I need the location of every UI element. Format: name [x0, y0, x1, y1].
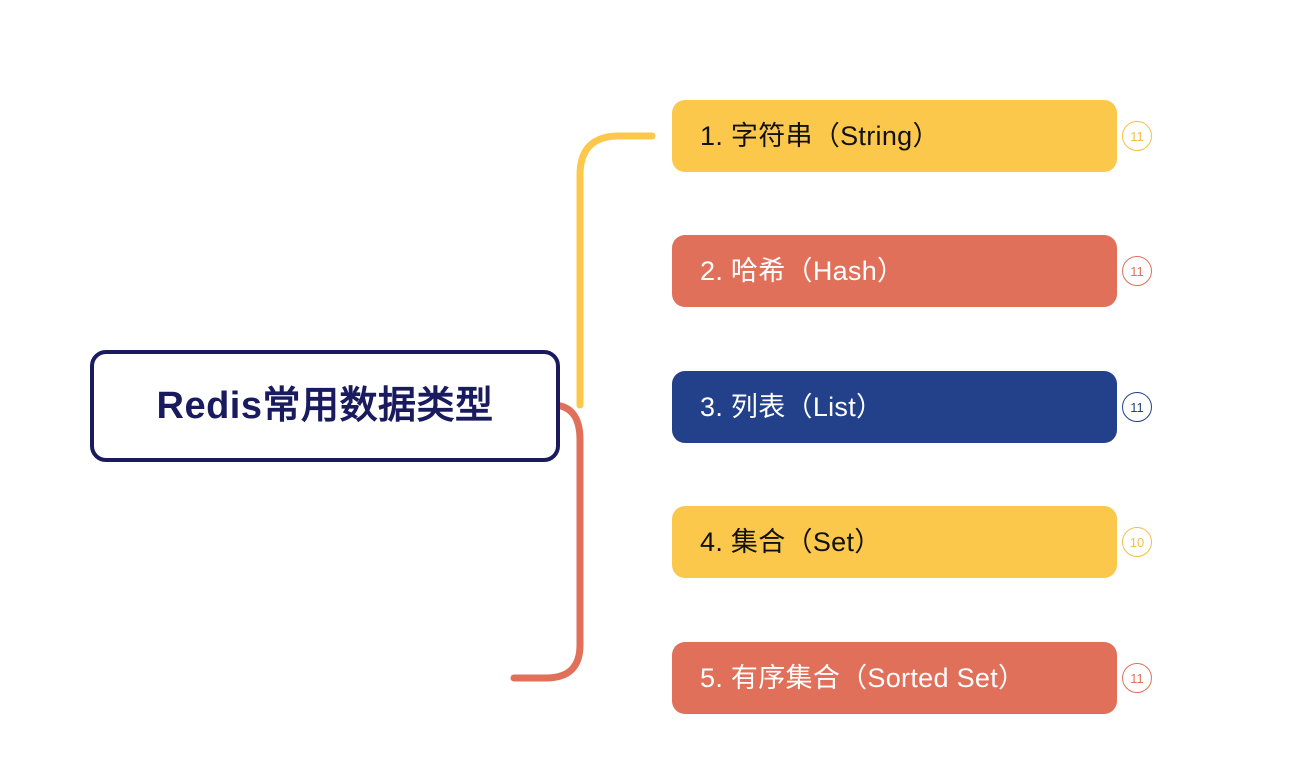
- branch-node-set[interactable]: 4. 集合（Set） 10: [672, 506, 1152, 578]
- branch-badge-string[interactable]: 11: [1122, 121, 1152, 151]
- branch-badge-sorted-set[interactable]: 11: [1122, 663, 1152, 693]
- branch-box-set[interactable]: 4. 集合（Set）: [672, 506, 1117, 578]
- branch-badge-set[interactable]: 10: [1122, 527, 1152, 557]
- branch-node-list[interactable]: 3. 列表（List） 11: [672, 371, 1152, 443]
- branch-node-string[interactable]: 1. 字符串（String） 11: [672, 100, 1152, 172]
- branch-badge-count-sorted-set: 11: [1130, 672, 1144, 685]
- branch-badge-count-set: 10: [1130, 536, 1144, 549]
- branch-box-sorted-set[interactable]: 5. 有序集合（Sorted Set）: [672, 642, 1117, 714]
- branch-box-list[interactable]: 3. 列表（List）: [672, 371, 1117, 443]
- root-node[interactable]: Redis常用数据类型: [90, 350, 560, 462]
- branch-box-string[interactable]: 1. 字符串（String）: [672, 100, 1117, 172]
- branch-label-string: 1. 字符串（String）: [700, 123, 940, 150]
- branch-badge-list[interactable]: 11: [1122, 392, 1152, 422]
- upper-branch-connector: [580, 136, 652, 405]
- branch-badge-count-list: 11: [1130, 401, 1144, 414]
- branch-label-hash: 2. 哈希（Hash）: [700, 258, 904, 285]
- branch-badge-count-string: 11: [1130, 130, 1144, 143]
- root-node-label: Redis常用数据类型: [157, 387, 494, 425]
- branch-node-hash[interactable]: 2. 哈希（Hash） 11: [672, 235, 1152, 307]
- mindmap-canvas: Redis常用数据类型 1. 字符串（String） 11 2. 哈希（Hash…: [0, 0, 1299, 778]
- branch-badge-count-hash: 11: [1130, 265, 1144, 278]
- branch-badge-hash[interactable]: 11: [1122, 256, 1152, 286]
- branch-label-set: 4. 集合（Set）: [700, 529, 882, 556]
- branch-label-sorted-set: 5. 有序集合（Sorted Set）: [700, 665, 1025, 692]
- branch-box-hash[interactable]: 2. 哈希（Hash）: [672, 235, 1117, 307]
- branch-node-sorted-set[interactable]: 5. 有序集合（Sorted Set） 11: [672, 642, 1152, 714]
- branch-label-list: 3. 列表（List）: [700, 394, 883, 421]
